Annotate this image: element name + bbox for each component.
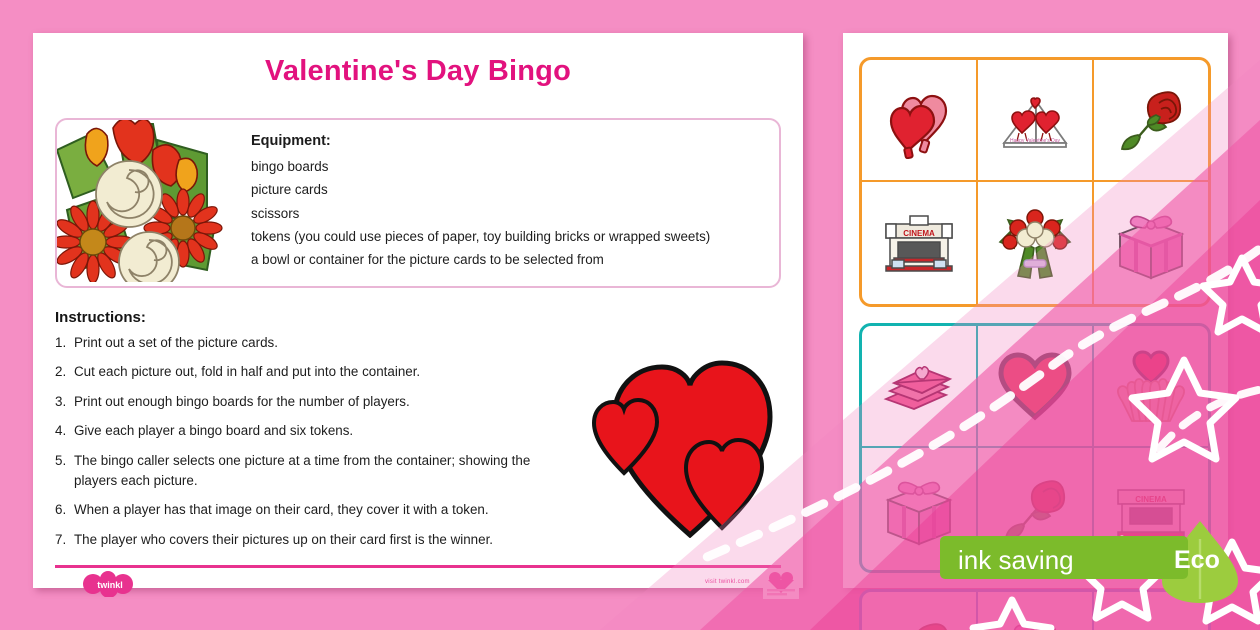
step-text: Cut each picture out, fold in half and p… <box>74 364 420 379</box>
step-text: When a player has that image on their ca… <box>74 502 489 517</box>
bingo-cell[interactable] <box>1092 60 1208 182</box>
pink-gift-box-icon <box>996 613 1074 630</box>
red-heart-icon <box>996 347 1074 425</box>
cinema-icon <box>1112 613 1190 630</box>
step-number: 7. <box>55 530 66 550</box>
valentine-card-icon: Happy Valentine's Day <box>996 81 1074 159</box>
visit-url-label[interactable]: visit twinkl.com <box>705 579 750 585</box>
instruction-step: 2. Cut each picture out, fold in half an… <box>55 362 575 382</box>
bingo-cell[interactable] <box>976 592 1092 630</box>
bingo-cell[interactable] <box>862 592 976 630</box>
love-letters-icon <box>880 347 958 425</box>
instruction-step: 1. Print out a set of the picture cards. <box>55 333 575 353</box>
instruction-step: 6. When a player has that image on their… <box>55 500 575 520</box>
flower-bouquet-icon <box>996 204 1074 282</box>
bingo-card-row: Happy Valentine's Day <box>862 60 1208 182</box>
bingo-cell[interactable] <box>862 326 976 448</box>
page-title: Valentine's Day Bingo <box>33 55 803 88</box>
screenshot-stage: Valentine's Day Bingo <box>0 0 1260 630</box>
instruction-sheet: Valentine's Day Bingo <box>33 33 803 588</box>
step-text: Print out a set of the picture cards. <box>74 335 278 350</box>
instructions-heading: Instructions: <box>55 309 146 326</box>
eco-label: Eco <box>1174 546 1220 575</box>
bingo-card-row <box>862 326 1208 448</box>
single-rose-icon <box>1112 81 1190 159</box>
svg-text:Happy Valentine's Day: Happy Valentine's Day <box>1010 138 1061 144</box>
bingo-cell[interactable]: CINEMA <box>862 182 976 304</box>
step-text: The player who covers their pictures up … <box>74 532 493 547</box>
step-number: 1. <box>55 333 66 353</box>
cinema-icon: CINEMA <box>880 204 958 282</box>
pink-gift-box-icon <box>1112 204 1190 282</box>
step-text: The bingo caller selects one picture at … <box>74 453 530 488</box>
step-number: 4. <box>55 421 66 441</box>
hands-holding-heart-icon <box>1112 347 1190 425</box>
ink-saving-eco-badge: ink saving Eco <box>940 527 1260 589</box>
bingo-cell[interactable] <box>1092 326 1208 448</box>
heart-balloons-icon <box>880 81 958 159</box>
instructions-list: 1. Print out a set of the picture cards.… <box>55 333 575 559</box>
equipment-item: picture cards <box>251 178 771 201</box>
bingo-cell[interactable]: Happy Valentine's Day <box>976 60 1092 182</box>
equipment-item: scissors <box>251 202 771 225</box>
bingo-card-orange[interactable]: Happy Valentine's Day <box>859 57 1211 307</box>
step-number: 3. <box>55 392 66 412</box>
single-rose-icon <box>880 613 958 630</box>
step-text: Give each player a bingo board and six t… <box>74 423 353 438</box>
step-number: 2. <box>55 362 66 382</box>
bingo-cell[interactable] <box>862 60 976 182</box>
equipment-item: bingo boards <box>251 155 771 178</box>
flower-bouquet-corner-icon <box>57 120 225 282</box>
instruction-step: 4. Give each player a bingo board and si… <box>55 421 575 441</box>
bingo-cell[interactable] <box>976 326 1092 448</box>
footer-divider <box>55 565 781 568</box>
bingo-cell[interactable] <box>976 182 1092 304</box>
instruction-step: 5. The bingo caller selects one picture … <box>55 451 575 492</box>
equipment-list: Equipment: bingo boards picture cards sc… <box>251 133 771 272</box>
bingo-card-row: CINEMA <box>862 182 1208 304</box>
three-red-hearts-icon <box>588 323 793 538</box>
equipment-heading: Equipment: <box>251 133 771 149</box>
twinkl-logo-icon[interactable]: twinkl <box>79 571 141 597</box>
svg-text:CINEMA: CINEMA <box>1135 495 1167 504</box>
step-number: 5. <box>55 451 66 471</box>
svg-text:CINEMA: CINEMA <box>903 229 935 238</box>
equipment-item: tokens (you could use pieces of paper, t… <box>251 225 771 248</box>
equipment-item: a bowl or container for the picture card… <box>251 248 771 271</box>
step-text: Print out enough bingo boards for the nu… <box>74 394 410 409</box>
ink-saving-label: ink saving <box>958 545 1074 576</box>
bingo-cell[interactable] <box>1092 182 1208 304</box>
instruction-step: 7. The player who covers their pictures … <box>55 530 575 550</box>
svg-text:twinkl: twinkl <box>97 580 123 590</box>
bingo-boards-preview-sheet: Happy Valentine's Day <box>843 33 1228 588</box>
instruction-step: 3. Print out enough bingo boards for the… <box>55 392 575 412</box>
step-number: 6. <box>55 500 66 520</box>
twinkl-badge-icon <box>763 569 799 599</box>
